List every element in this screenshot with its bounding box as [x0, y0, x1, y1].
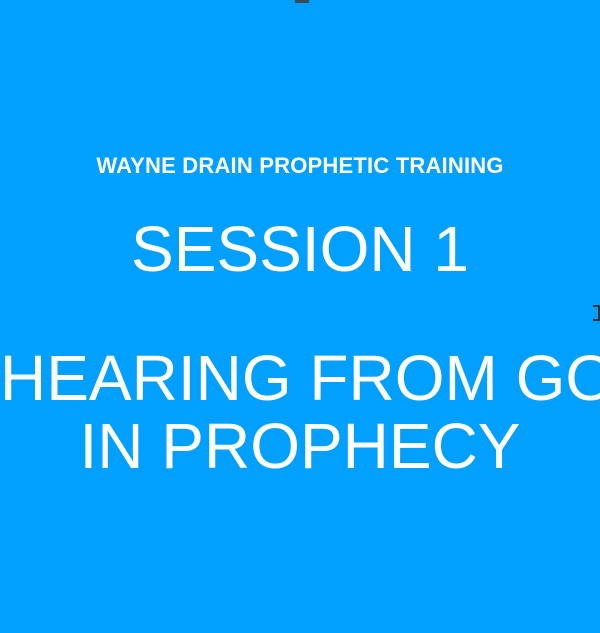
slide-main-title: HEARING FROM GOD IN PROPHECY: [0, 344, 600, 480]
slide-title-line-2: IN PROPHECY: [0, 412, 600, 480]
slide-session-label: SESSION 1: [0, 213, 600, 285]
right-edge-artifact-mark: [593, 305, 600, 321]
title-slide: WAYNE DRAIN PROPHETIC TRAINING SESSION 1…: [0, 0, 600, 633]
slide-eyebrow-text: WAYNE DRAIN PROPHETIC TRAINING: [0, 152, 600, 180]
slide-title-line-1: HEARING FROM GOD: [0, 344, 600, 412]
top-edge-artifact-mark: [295, 0, 309, 3]
